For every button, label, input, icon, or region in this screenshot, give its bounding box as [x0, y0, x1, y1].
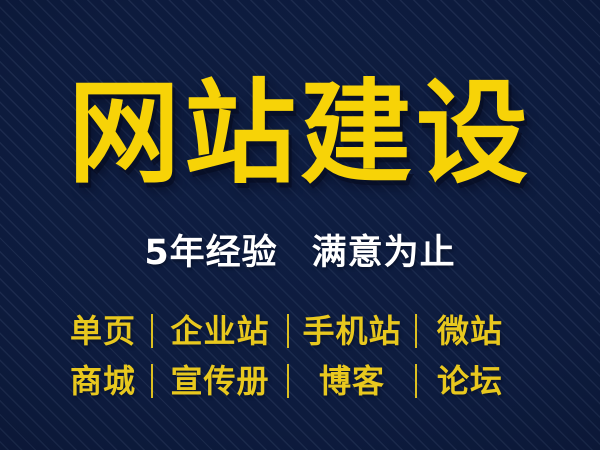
subtitle-right: 满意为止 — [312, 233, 456, 273]
poster-content: 网站建设 5年经验满意为止 单页 企业站 手机站 微站 商城 宣传册 博客 — [0, 0, 600, 450]
tag-separator-icon — [151, 364, 153, 398]
tag-separator-icon — [415, 314, 417, 348]
tag-separator-icon — [287, 364, 289, 398]
poster-headline: 网站建设 — [0, 78, 600, 190]
subtitle-left: 5年经验 — [144, 233, 277, 273]
service-tag-list: 单页 企业站 手机站 微站 商城 宣传册 博客 论坛 — [60, 306, 540, 406]
service-tag: 商城 — [60, 365, 146, 397]
service-tag: 手机站 — [294, 315, 410, 347]
service-tag: 单页 — [60, 315, 146, 347]
tag-separator-icon — [287, 314, 289, 348]
service-tag: 宣传册 — [158, 365, 282, 397]
service-tag: 博客 — [294, 365, 410, 397]
service-tag-row: 商城 宣传册 博客 论坛 — [60, 356, 540, 406]
service-tag: 企业站 — [158, 315, 282, 347]
poster-subtitle: 5年经验满意为止 — [0, 236, 600, 271]
service-tag-row: 单页 企业站 手机站 微站 — [60, 306, 540, 356]
service-tag: 微站 — [422, 315, 518, 347]
tag-separator-icon — [415, 364, 417, 398]
promo-poster: 网站建设 5年经验满意为止 单页 企业站 手机站 微站 商城 宣传册 博客 — [0, 0, 600, 450]
tag-separator-icon — [151, 314, 153, 348]
service-tag: 论坛 — [422, 365, 518, 397]
